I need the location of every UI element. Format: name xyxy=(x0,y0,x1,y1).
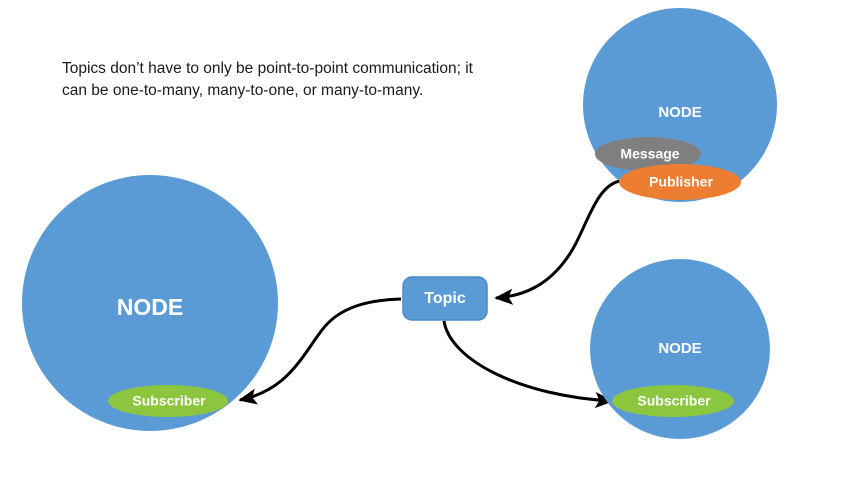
topic-box[interactable]: Topic xyxy=(403,277,487,320)
node-subscriber-right[interactable]: NODE Subscriber xyxy=(590,259,770,439)
topic-label: Topic xyxy=(424,290,466,307)
subscriber-right-label: Subscriber xyxy=(637,393,711,409)
diagram-canvas: Topics don’t have to only be point-to-po… xyxy=(0,0,854,480)
node-publisher-label: NODE xyxy=(658,104,701,121)
publisher-pill[interactable]: Publisher xyxy=(619,164,741,200)
subscriber-pill-right[interactable]: Subscriber xyxy=(612,385,734,417)
node-subscriber-right-label: NODE xyxy=(658,340,701,357)
node-subscriber-left[interactable]: NODE Subscriber xyxy=(22,175,278,431)
subscriber-pill-left[interactable]: Subscriber xyxy=(108,385,228,417)
connector-topic-to-right-subscriber xyxy=(444,321,612,401)
publisher-label: Publisher xyxy=(649,174,713,190)
node-subscriber-left-label: NODE xyxy=(117,294,183,320)
node-publisher[interactable]: NODE Message Publisher xyxy=(583,8,777,202)
subscriber-left-label: Subscriber xyxy=(132,393,206,409)
connector-publisher-to-topic xyxy=(496,181,620,298)
diagram-graphics: NODE Message Publisher NODE Subscriber xyxy=(0,0,854,480)
message-label: Message xyxy=(620,146,679,162)
